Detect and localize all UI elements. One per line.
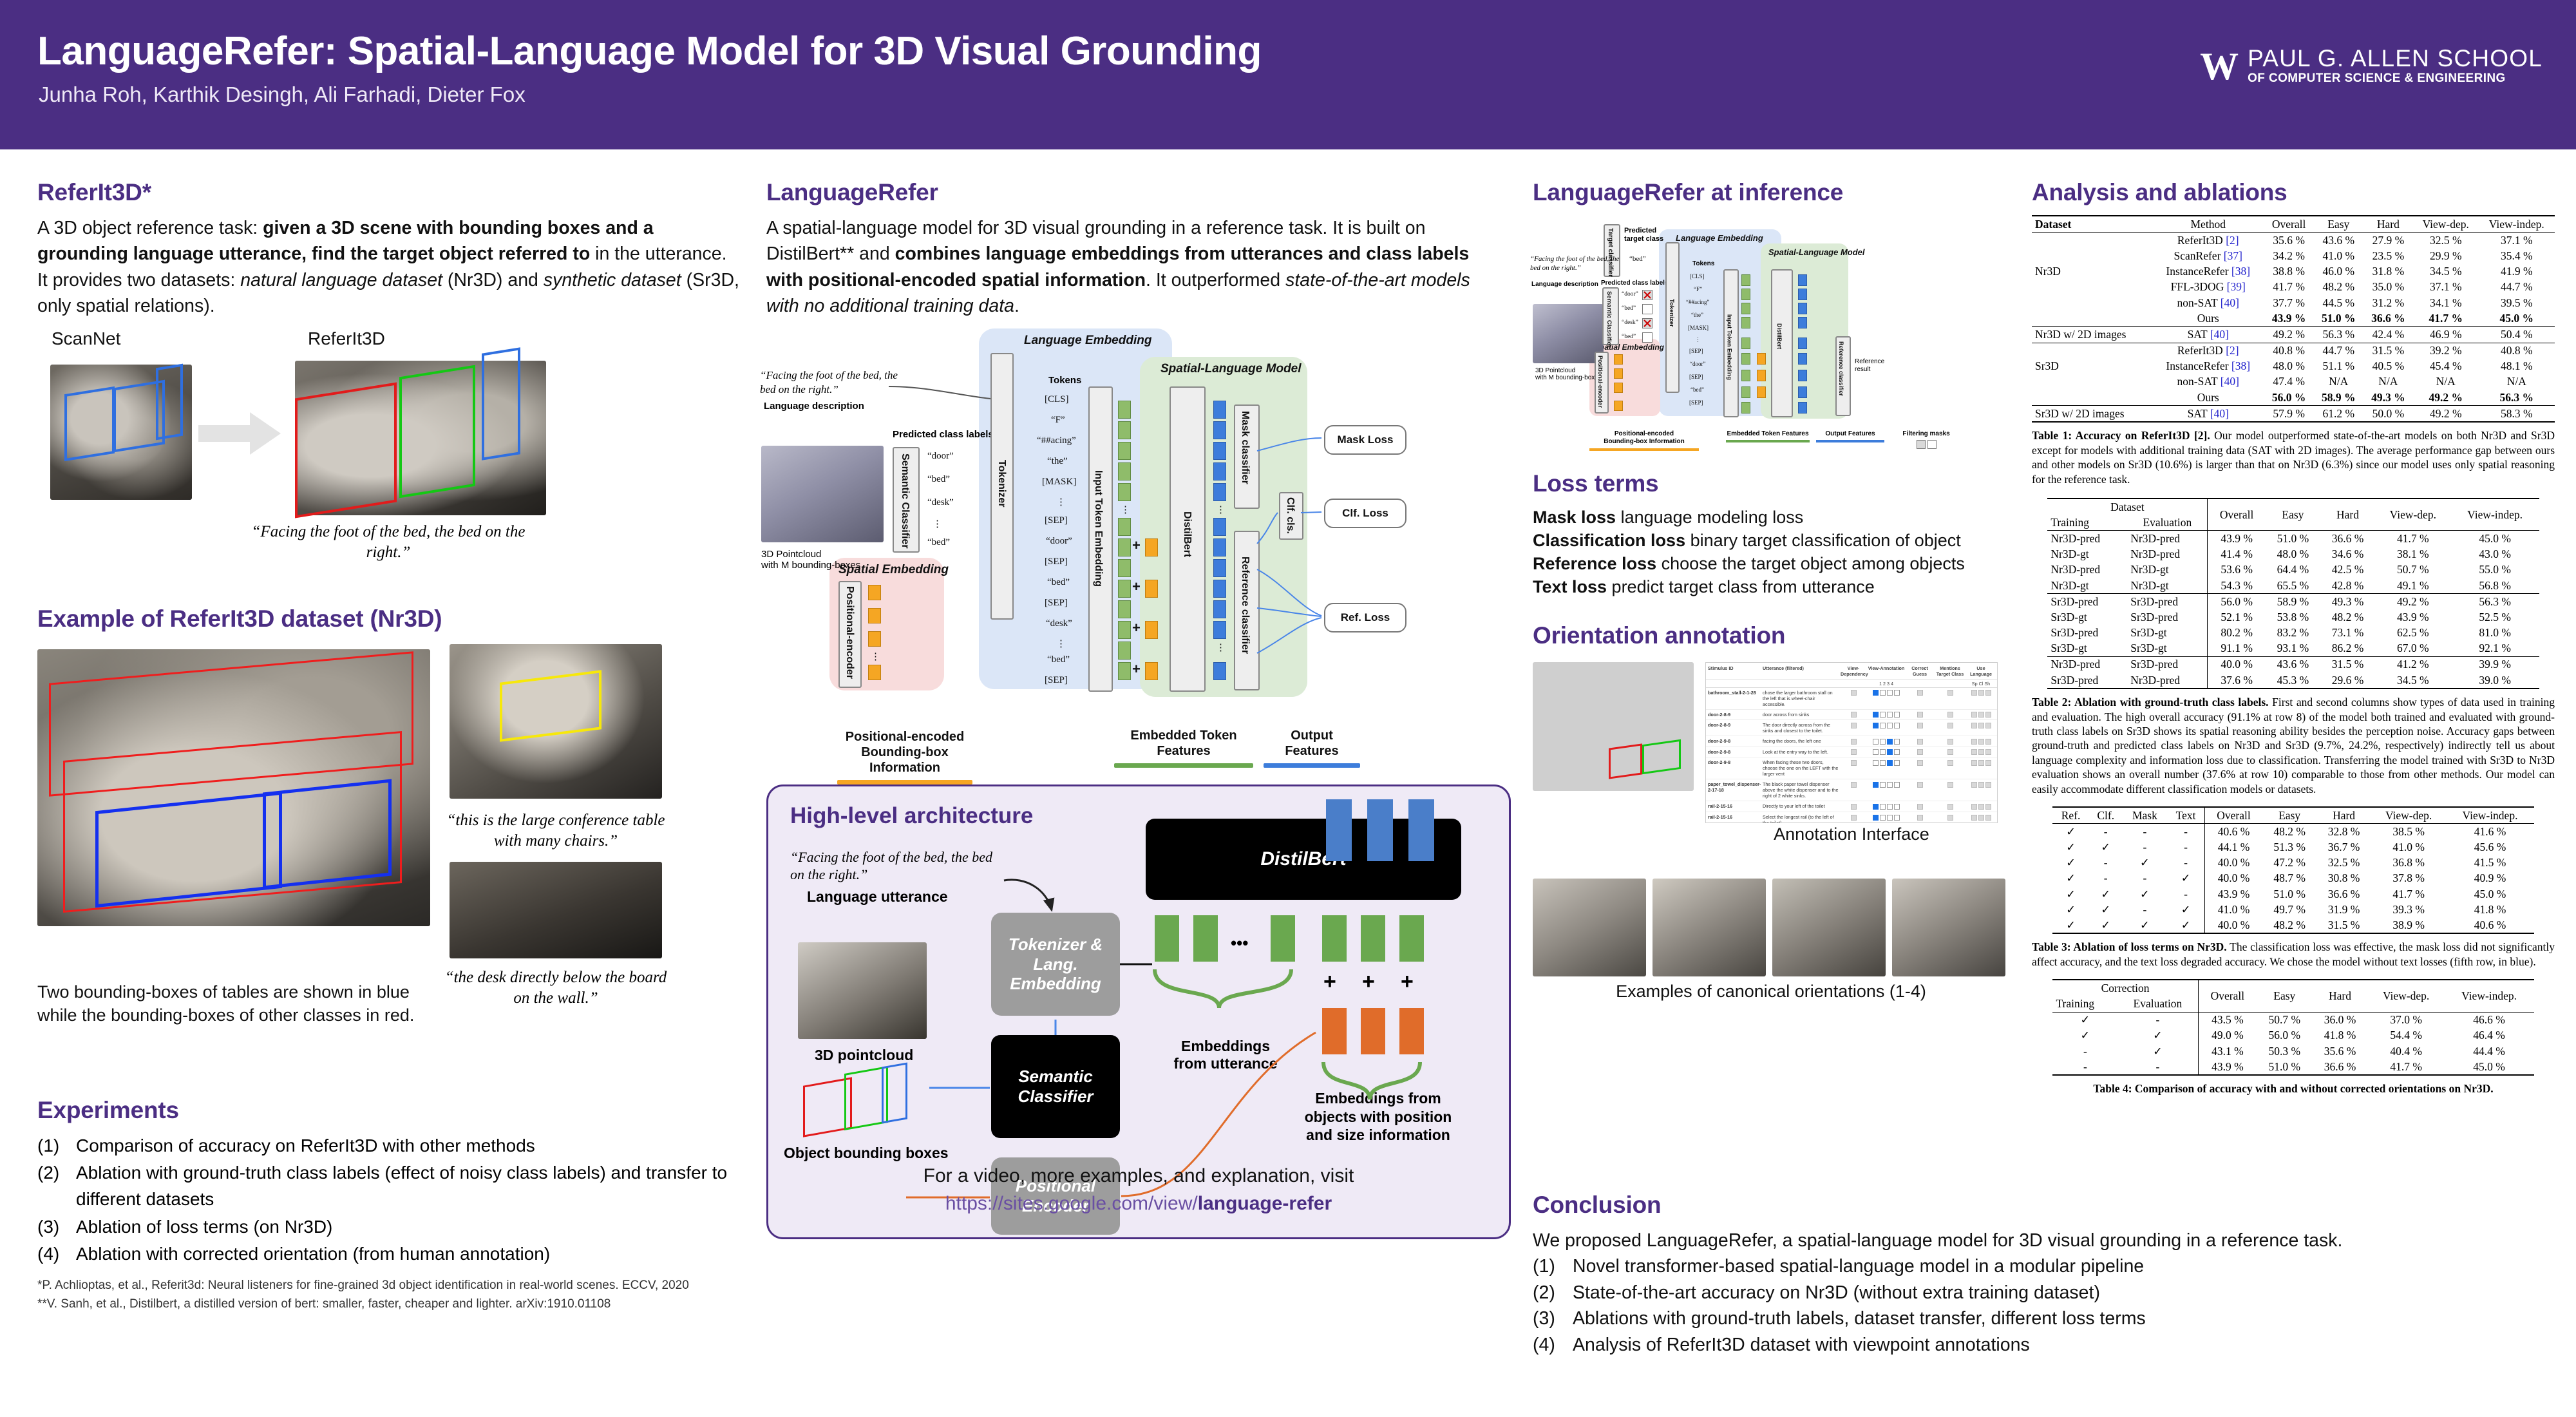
use-lang-sh-checkbox[interactable] <box>1985 760 1991 766</box>
module-input-token-embedding-label: Input Token Embedding <box>1092 470 1103 587</box>
mentions-target-checkbox[interactable] <box>1947 712 1953 718</box>
cell-value: 45.0 % <box>2445 1059 2534 1075</box>
mentions-target-checkbox[interactable] <box>1947 760 1953 766</box>
cell-use-language <box>1967 749 1995 756</box>
referit3d-p6: synthetic dataset <box>544 270 681 290</box>
view-dependency-checkbox[interactable] <box>1851 804 1857 810</box>
correct-guess-checkbox[interactable] <box>1917 815 1923 821</box>
view-dependency-checkbox[interactable] <box>1851 749 1857 755</box>
cell-mentions-target-class <box>1933 749 1967 756</box>
mentions-target-checkbox[interactable] <box>1947 815 1953 821</box>
view-annotation-checkbox[interactable] <box>1873 815 1879 821</box>
scannet-bbox-blue-1 <box>64 386 115 461</box>
output-feature-cell <box>1213 483 1226 501</box>
cell-utterance: chose the larger bathroom stall on the l… <box>1763 690 1841 707</box>
output-feature-cell <box>1213 421 1226 439</box>
poster-root: LanguageRefer: Spatial-Language Model fo… <box>0 0 2576 1417</box>
col-view-dependency: View-Dependency <box>1841 665 1866 677</box>
col-use-language: Use Language <box>1967 665 1995 677</box>
orientation-annotation-figure: Stimulus ID Utterance (filtered) View-De… <box>1533 658 2022 871</box>
view-annotation-checkbox[interactable] <box>1894 690 1900 696</box>
cell-stimulus-id: door-2-8-9 <box>1708 712 1763 718</box>
ellipsis-vertical: ⋮ <box>871 651 880 663</box>
cell-value: 48.0 % <box>2264 359 2314 374</box>
cell-view-dependency <box>1841 814 1866 823</box>
annotation-ui-table[interactable]: Stimulus ID Utterance (filtered) View-De… <box>1705 662 1998 823</box>
referit3d-description: A 3D object reference task: given a 3D s… <box>37 215 739 319</box>
correct-guess-checkbox[interactable] <box>1917 712 1923 718</box>
cell-value: 56.0 % <box>2208 594 2266 610</box>
view-annotation-checkbox[interactable] <box>1880 739 1886 745</box>
cell-dataset <box>2032 390 2152 406</box>
token-feature-cell-inf <box>1741 317 1750 328</box>
mentions-target-checkbox[interactable] <box>1947 749 1953 755</box>
use-lang-sh-checkbox[interactable] <box>1985 723 1991 728</box>
output-feature-cell <box>1213 401 1226 419</box>
token: ⋮ <box>1056 496 1066 508</box>
plus-icon: + <box>1401 969 1414 994</box>
cell-view-annotation <box>1866 749 1906 756</box>
cell-value: 93.1 % <box>2266 641 2320 657</box>
table-row: Sr3D-predSr3D-pred56.0 %58.9 %49.3 %49.2… <box>2047 594 2539 610</box>
example-note: Two bounding-boxes of tables are shown i… <box>37 980 424 1027</box>
cell-flag: ✓ <box>2052 886 2088 902</box>
label-language-utterance: Language utterance <box>807 888 948 906</box>
annotation-bbox-green <box>1642 739 1681 774</box>
cell-view-annotation <box>1866 803 1906 810</box>
output-feature-cell-inf <box>1798 317 1807 328</box>
table-2-caption: Table 2: Ablation with ground-truth clas… <box>2032 695 2555 796</box>
view-annotation-checkbox[interactable] <box>1894 782 1900 788</box>
view-annotation-checkbox[interactable] <box>1880 760 1886 766</box>
cell-value: 37.7 % <box>2264 295 2314 310</box>
cell-stimulus-id: rail-2-15-16 <box>1708 803 1763 810</box>
cell-correct-guess <box>1906 814 1933 823</box>
cell-value: 56.0 % <box>2264 390 2314 406</box>
th: Text <box>2167 807 2205 824</box>
token-inf: “the” <box>1691 312 1703 318</box>
use-lang-cl-checkbox[interactable] <box>1978 712 1984 718</box>
cell-value: 36.6 % <box>2312 1059 2367 1075</box>
cell-training: Sr3D-pred <box>2047 625 2127 641</box>
cell-utterance: The black paper towel dispenser above th… <box>1763 781 1841 799</box>
cell-value: 29.9 % <box>2413 248 2479 263</box>
module-mask-classifier-label: Mask classifier <box>1239 411 1251 484</box>
caption-canonical-orientations: Examples of canonical orientations (1-4) <box>1533 982 2009 1002</box>
cell-training: - <box>2052 1043 2117 1059</box>
uw-allen-school-logo: W PAUL G. ALLEN SCHOOL OF COMPUTER SCIEN… <box>2200 46 2543 86</box>
view-annotation-checkbox[interactable] <box>1894 804 1900 810</box>
view-annotation-checkbox[interactable] <box>1880 749 1886 755</box>
legend-label: Embedded Token Features <box>1727 430 1808 437</box>
cell-value: 38.9 % <box>2371 917 2447 933</box>
cell-training: ✓ <box>2052 1028 2117 1043</box>
use-lang-sp-checkbox[interactable] <box>1971 723 1977 728</box>
annotation-row[interactable]: door-2-9-8Look at the entry way to the l… <box>1706 747 1997 758</box>
use-lang-cl-checkbox[interactable] <box>1978 739 1984 745</box>
view-dependency-checkbox[interactable] <box>1851 760 1857 766</box>
cell-evaluation: Sr3D-gt <box>2127 625 2208 641</box>
use-lang-sp-checkbox[interactable] <box>1971 712 1977 718</box>
annotation-row[interactable]: door-2-8-9door across from sinks <box>1706 710 1997 721</box>
col-utterance: Utterance (filtered) <box>1763 665 1841 677</box>
cell-value: 45.6 % <box>2446 839 2533 855</box>
cell-value: 49.2 % <box>2413 390 2479 406</box>
use-lang-cl-checkbox[interactable] <box>1978 815 1984 821</box>
cell-value: 34.2 % <box>2264 248 2314 263</box>
use-lang-sp-checkbox[interactable] <box>1971 690 1977 696</box>
class-label-inf: “desk” <box>1622 319 1638 326</box>
use-lang-cl-checkbox[interactable] <box>1978 760 1984 766</box>
utterance-embedding-cell <box>1155 915 1179 962</box>
conclusion-item-text: State-of-the-art accuracy on Nr3D (witho… <box>1573 1280 2100 1306</box>
label-tokens-inf: Tokens <box>1692 260 1714 267</box>
cell-value: 57.9 % <box>2264 406 2314 423</box>
use-lang-sh-checkbox[interactable] <box>1985 739 1991 745</box>
legend-item-filtering-masks: Filtering masks <box>1891 430 1962 451</box>
annotation-row[interactable]: rail-2-15-16Select the longest rail (to … <box>1706 812 1997 823</box>
cell-flag: ✓ <box>2089 902 2123 917</box>
cell-flag: ✓ <box>2052 855 2088 871</box>
module-reference-classifier-label-inf: Reference classifier <box>1838 341 1844 396</box>
cell-value: 41.8 % <box>2446 902 2533 917</box>
th-training: Training <box>2047 515 2127 531</box>
token: “the” <box>1047 456 1068 467</box>
table-1-caption-bold: Table 1: Accuracy on ReferIt3D [2]. <box>2032 429 2210 442</box>
referit3d-p1: A 3D object reference task: <box>37 218 263 238</box>
legend-color-bar <box>1726 440 1810 442</box>
view-annotation-checkbox[interactable] <box>1894 712 1900 718</box>
cell-flag: ✓ <box>2089 839 2123 855</box>
predicted-target-class-value: “bed” <box>1629 255 1646 263</box>
use-lang-sh-checkbox[interactable] <box>1985 815 1991 821</box>
token-feature-cell <box>1118 421 1131 439</box>
use-lang-sh-checkbox[interactable] <box>1985 782 1991 788</box>
cell-training: Nr3D-gt <box>2047 578 2127 594</box>
correct-guess-checkbox[interactable] <box>1917 690 1923 696</box>
module-positional-encoder-label-inf: Positional-encoder <box>1597 356 1604 408</box>
output-feature-cell-inf <box>1798 386 1807 398</box>
use-lang-sh-checkbox[interactable] <box>1985 690 1991 696</box>
use-lang-cl-checkbox[interactable] <box>1978 804 1984 810</box>
view-annotation-checkbox[interactable] <box>1873 712 1879 718</box>
use-lang-cl-checkbox[interactable] <box>1978 723 1984 728</box>
cell-value: 39.3 % <box>2371 902 2447 917</box>
view-annotation-checkbox[interactable] <box>1894 749 1900 755</box>
correct-guess-checkbox[interactable] <box>1917 760 1923 766</box>
output-feature-cell <box>1213 538 1226 556</box>
spatial-feature-cell-inf <box>1757 370 1766 381</box>
view-annotation-checkbox[interactable] <box>1887 739 1893 745</box>
cell-method: ReferIt3D [2] <box>2152 343 2264 359</box>
view-annotation-checkbox[interactable] <box>1887 760 1893 766</box>
use-lang-sh-checkbox[interactable] <box>1985 804 1991 810</box>
use-lang-sh-checkbox[interactable] <box>1985 749 1991 755</box>
cell-value: 34.6 % <box>2320 547 2375 562</box>
positional-embedding-cell-inf <box>1614 368 1623 379</box>
view-annotation-checkbox[interactable] <box>1894 739 1900 745</box>
cell-value: 31.5 % <box>2316 917 2371 933</box>
cell-utterance: Directly to your left of the toilet <box>1763 803 1841 810</box>
token-inf: “##acing” <box>1686 299 1709 305</box>
class-label: “door” <box>927 451 954 462</box>
use-lang-cl-checkbox[interactable] <box>1978 782 1984 788</box>
cell-dataset <box>2032 343 2152 359</box>
cell-flag: - <box>2167 886 2205 902</box>
logo-line-1: PAUL G. ALLEN SCHOOL <box>2248 46 2543 71</box>
mentions-target-checkbox[interactable] <box>1947 690 1953 696</box>
cell-value: 48.1 % <box>2479 359 2555 374</box>
use-lang-sp-checkbox[interactable] <box>1971 739 1977 745</box>
th: Hard <box>2312 980 2367 1012</box>
cell-value: 41.7 % <box>2371 886 2447 902</box>
cell-value: 41.5 % <box>2446 855 2533 871</box>
view-annotation-checkbox[interactable] <box>1873 723 1879 728</box>
token: “bed” <box>1047 577 1070 588</box>
correct-guess-checkbox[interactable] <box>1917 723 1923 728</box>
cell-evaluation: ✓ <box>2117 1028 2198 1043</box>
cell-view-annotation <box>1866 690 1906 707</box>
view-annotation-checkbox[interactable] <box>1887 749 1893 755</box>
label-object-bounding-boxes: Object bounding boxes <box>784 1145 949 1163</box>
cell-evaluation: Nr3D-pred <box>2127 531 2208 547</box>
cell-view-annotation <box>1866 759 1906 777</box>
cell-view-annotation <box>1866 814 1906 823</box>
column-tables: Analysis and ablations DatasetMethodOver… <box>2032 179 2555 1096</box>
view-annotation-checkbox[interactable] <box>1887 712 1893 718</box>
token-inf: [MASK] <box>1688 325 1709 331</box>
logo-line-2: OF COMPUTER SCIENCE & ENGINEERING <box>2248 71 2543 86</box>
output-feature-cell <box>1213 662 1226 680</box>
cell-value: 40.4 % <box>2368 1043 2445 1059</box>
cell-value: 50.4 % <box>2479 327 2555 343</box>
cell-evaluation: - <box>2117 1012 2198 1028</box>
section-heading-loss-terms: Loss terms <box>1533 470 2022 497</box>
cell-flag: - <box>2089 871 2123 886</box>
table-row: ✓✓49.0 %56.0 %41.8 %54.4 %46.4 % <box>2052 1028 2533 1043</box>
high-level-quote: “Facing the foot of the bed, the bed on … <box>790 848 1003 884</box>
mentions-target-checkbox[interactable] <box>1947 723 1953 728</box>
cell-value: 56.0 % <box>2257 1028 2312 1043</box>
view-annotation-checkbox[interactable] <box>1894 723 1900 728</box>
use-lang-cl-checkbox[interactable] <box>1978 749 1984 755</box>
class-label: “bed” <box>927 474 950 485</box>
correct-guess-checkbox[interactable] <box>1917 804 1923 810</box>
label-predicted-class-labels-inf: Predicted class labels <box>1601 280 1669 287</box>
view-annotation-checkbox[interactable] <box>1873 760 1879 766</box>
correct-guess-checkbox[interactable] <box>1917 782 1923 788</box>
cell-view-annotation <box>1866 781 1906 799</box>
use-lang-sh-checkbox[interactable] <box>1985 712 1991 718</box>
output-feature-cell-inf <box>1798 370 1807 381</box>
cell-value: N/A <box>2363 374 2413 390</box>
cell-value: 51.0 % <box>2314 310 2363 327</box>
label-predicted-class-labels: Predicted class labels <box>893 429 994 440</box>
sub-1: 1 <box>1879 681 1882 687</box>
cell-value: 41.8 % <box>2312 1028 2367 1043</box>
use-lang-sp-checkbox[interactable] <box>1971 782 1977 788</box>
cell-value: 39.2 % <box>2413 343 2479 359</box>
use-lang-sp-checkbox[interactable] <box>1971 760 1977 766</box>
legend-color-bar <box>1114 763 1253 768</box>
cell-value: 56.3 % <box>2314 327 2363 343</box>
annotation-row[interactable]: door-2-9-8facing the doors, the left one <box>1706 736 1997 747</box>
example-scene-desk <box>450 862 662 958</box>
view-dependency-checkbox[interactable] <box>1851 712 1857 718</box>
cell-utterance: When facing these two doors, choose the … <box>1763 759 1841 777</box>
cell-mentions-target-class <box>1933 759 1967 777</box>
view-annotation-checkbox[interactable] <box>1887 782 1893 788</box>
view-annotation-checkbox[interactable] <box>1873 739 1879 745</box>
architecture-legend: Positional-encoded Bounding-box Informat… <box>766 714 1507 769</box>
view-dependency-checkbox[interactable] <box>1851 739 1857 745</box>
cell-value: 40.6 % <box>2446 917 2533 933</box>
legend-color-bar <box>837 780 972 785</box>
loss-term-desc: predict target class from utterance <box>1607 577 1875 596</box>
view-annotation-checkbox[interactable] <box>1873 782 1879 788</box>
correct-guess-checkbox[interactable] <box>1917 739 1923 745</box>
example-quote-bottom: “the desk directly below the board on th… <box>443 967 668 1009</box>
legend-item-output-inf: Output Features <box>1816 430 1884 442</box>
th: Easy <box>2266 499 2320 531</box>
cell-evaluation: Sr3D-pred <box>2127 594 2208 610</box>
cell-flag: ✓ <box>2052 871 2088 886</box>
class-label-inf: “bed” <box>1622 334 1636 340</box>
th-dataset: Dataset <box>2032 216 2152 233</box>
cell-method: ReferIt3D [2] <box>2152 233 2264 249</box>
view-annotation-checkbox[interactable] <box>1887 804 1893 810</box>
view-annotation-checkbox[interactable] <box>1887 815 1893 821</box>
view-dependency-checkbox[interactable] <box>1851 690 1857 696</box>
use-lang-cl-checkbox[interactable] <box>1978 690 1984 696</box>
module-distilbert-label-inf: DistilBert <box>1776 323 1783 349</box>
annotation-row[interactable]: door-2-9-8When facing these two doors, c… <box>1706 757 1997 779</box>
th-training: Training <box>2052 996 2117 1012</box>
cell-evaluation: Sr3D-pred <box>2127 609 2208 625</box>
view-dependency-checkbox[interactable] <box>1851 815 1857 821</box>
cell-value: 29.6 % <box>2320 672 2375 689</box>
view-annotation-checkbox[interactable] <box>1873 749 1879 755</box>
cell-value: 49.7 % <box>2262 902 2316 917</box>
view-annotation-checkbox[interactable] <box>1880 723 1886 728</box>
cell-dataset <box>2032 248 2152 263</box>
token-inf: [CLS] <box>1690 273 1705 280</box>
view-annotation-checkbox[interactable] <box>1894 760 1900 766</box>
annotation-row[interactable]: door-2-8-9The door directly across from … <box>1706 720 1997 736</box>
class-label: “bed” <box>927 537 950 548</box>
col-stimulus-id: Stimulus ID <box>1708 665 1763 677</box>
use-lang-sp-checkbox[interactable] <box>1971 749 1977 755</box>
table-row: -✓43.1 %50.3 %35.6 %40.4 %44.4 % <box>2052 1043 2533 1059</box>
token: “door” <box>1046 536 1072 547</box>
output-feature-cell-inf <box>1798 274 1807 286</box>
class-label-inf: “bed” <box>1622 305 1636 312</box>
view-dependency-checkbox[interactable] <box>1851 723 1857 728</box>
view-annotation-checkbox[interactable] <box>1880 690 1886 696</box>
token-feature-cell <box>1118 600 1131 618</box>
annotation-row[interactable]: rail-2-15-16Directly to your left of the… <box>1706 801 1997 812</box>
annotation-row[interactable]: bathroom_stall-2-1-28chose the larger ba… <box>1706 688 1997 710</box>
view-annotation-checkbox[interactable] <box>1880 804 1886 810</box>
table-row: FFL-3DOG [39]41.7 %48.2 %35.0 %37.1 %44.… <box>2032 280 2555 295</box>
visit-url[interactable]: https://sites.google.com/view/language-r… <box>768 1190 1509 1218</box>
table-row: ReferIt3D [2]40.8 %44.7 %31.5 %39.2 %40.… <box>2032 343 2555 359</box>
cell-utterance: Select the longest rail (to the left of … <box>1763 814 1841 823</box>
correct-guess-checkbox[interactable] <box>1917 749 1923 755</box>
cell-value: 27.9 % <box>2363 233 2413 249</box>
cell-training: Sr3D-pred <box>2047 594 2127 610</box>
view-annotation-checkbox[interactable] <box>1880 712 1886 718</box>
th-evaluation: Evaluation <box>2127 515 2208 531</box>
view-annotation-checkbox[interactable] <box>1873 690 1879 696</box>
token-feature-cell-inf <box>1741 370 1750 381</box>
view-dependency-checkbox[interactable] <box>1851 782 1857 788</box>
table-row: Nr3D-gtNr3D-gt54.3 %65.5 %42.8 %49.1 %56… <box>2047 578 2539 594</box>
annotation-row[interactable]: paper_towel_dispenser-2-17-18The black p… <box>1706 779 1997 801</box>
view-annotation-checkbox[interactable] <box>1894 815 1900 821</box>
referit3d-bbox-blue <box>482 347 520 461</box>
conclusion-item-number: (3) <box>1533 1306 1565 1331</box>
cell-value: 34.1 % <box>2413 295 2479 310</box>
cell-value: 80.2 % <box>2208 625 2266 641</box>
cell-training: ✓ <box>2052 1012 2117 1028</box>
cell-value: 37.0 % <box>2368 1012 2445 1028</box>
cell-evaluation: ✓ <box>2117 1043 2198 1059</box>
label-language-embedding-inf: Language Embedding <box>1676 233 1763 243</box>
filter-mask-empty <box>1642 304 1653 314</box>
use-lang-sp-checkbox[interactable] <box>1971 804 1977 810</box>
th: View-indep. <box>2479 216 2555 233</box>
col-view-annotation: View-Annotation <box>1866 665 1906 677</box>
view-annotation-checkbox[interactable] <box>1880 815 1886 821</box>
table-row: ✓✓✓✓40.0 %48.2 %31.5 %38.9 %40.6 % <box>2052 917 2533 933</box>
cell-value: 40.0 % <box>2205 917 2262 933</box>
view-annotation-checkbox[interactable] <box>1873 804 1879 810</box>
cell-value: 56.3 % <box>2451 594 2539 610</box>
inference-diagram: Language Embedding Spatial-Language Mode… <box>1533 215 2022 447</box>
mentions-target-checkbox[interactable] <box>1947 804 1953 810</box>
cell-value: 55.0 % <box>2451 562 2539 578</box>
view-annotation-checkbox[interactable] <box>1880 782 1886 788</box>
cell-value: 41.7 % <box>2264 280 2314 295</box>
cell-value: 37.1 % <box>2413 280 2479 295</box>
cell-view-dependency <box>1841 690 1866 707</box>
table-4-caption-bold: Table 4: Comparison of accuracy with and… <box>2093 1082 2493 1095</box>
token: [SEP] <box>1045 675 1068 686</box>
view-annotation-checkbox[interactable] <box>1887 723 1893 728</box>
cell-value: 58.9 % <box>2314 390 2363 406</box>
cell-value: 41.0 % <box>2314 248 2363 263</box>
orientation-annotation-section: Orientation annotation Stimulus ID Utter… <box>1533 622 2022 994</box>
cell-evaluation: Nr3D-gt <box>2127 562 2208 578</box>
cell-training: Sr3D-gt <box>2047 609 2127 625</box>
loss-term-item: Text loss predict target class from utte… <box>1533 576 2022 599</box>
object-embedding-cell-top <box>1322 915 1347 962</box>
loss-term-name: Text loss <box>1533 577 1607 596</box>
cell-value: 44.5 % <box>2314 295 2363 310</box>
cell-value: 51.0 % <box>2262 886 2316 902</box>
conclusion-item: (4)Analysis of ReferIt3D dataset with vi… <box>1533 1332 2550 1358</box>
mentions-target-checkbox[interactable] <box>1947 782 1953 788</box>
view-annotation-checkbox[interactable] <box>1887 690 1893 696</box>
cell-method: InstanceRefer [38] <box>2152 359 2264 374</box>
table-row: Sr3D-gtSr3D-pred52.1 %53.8 %48.2 %43.9 %… <box>2047 609 2539 625</box>
visit-url-slug: language-refer <box>1198 1193 1332 1214</box>
ellipsis-icon: ••• <box>1231 933 1248 953</box>
cell-value: 58.9 % <box>2266 594 2320 610</box>
use-lang-sp-checkbox[interactable] <box>1971 815 1977 821</box>
mentions-target-checkbox[interactable] <box>1947 739 1953 745</box>
